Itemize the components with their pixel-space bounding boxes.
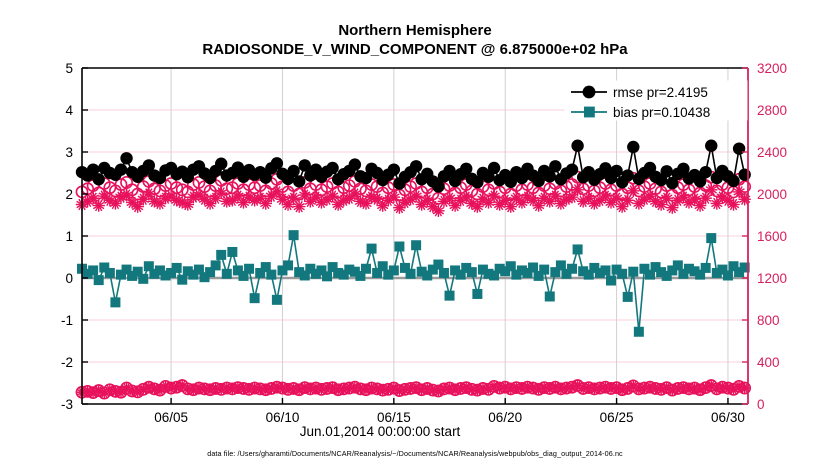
svg-text:400: 400 xyxy=(757,355,780,370)
svg-text:0: 0 xyxy=(757,397,765,412)
svg-text:3200: 3200 xyxy=(757,61,787,76)
svg-text:-2: -2 xyxy=(61,355,73,370)
svg-text:06/25: 06/25 xyxy=(600,410,634,425)
svg-text:-3: -3 xyxy=(61,397,73,412)
x-axis-ticks: 06/0506/1006/1506/2006/2506/30 xyxy=(154,398,745,425)
svg-text:4: 4 xyxy=(65,103,73,118)
svg-text:1600: 1600 xyxy=(757,229,787,244)
svg-text:0: 0 xyxy=(65,271,73,286)
svg-text:2400: 2400 xyxy=(757,145,787,160)
horizontal-gridlines xyxy=(82,110,748,362)
y-axis-left-ticks: -3-2-1012345 xyxy=(61,61,88,412)
svg-text:800: 800 xyxy=(757,313,780,328)
svg-text:1: 1 xyxy=(65,229,73,244)
chart-figure: Northern Hemisphere RADIOSONDE_V_WIND_CO… xyxy=(0,0,830,470)
svg-text:2000: 2000 xyxy=(757,187,787,202)
legend-label: bias pr=0.10438 xyxy=(613,105,710,120)
svg-text:2: 2 xyxy=(65,187,73,202)
series-obs-low-overlay xyxy=(76,379,751,399)
svg-text:06/30: 06/30 xyxy=(711,410,745,425)
svg-text:5: 5 xyxy=(65,61,73,76)
svg-text:3: 3 xyxy=(65,145,73,160)
svg-text:06/05: 06/05 xyxy=(154,410,188,425)
svg-text:06/20: 06/20 xyxy=(488,410,522,425)
plot-canvas: -3-2-1012345 040080012001600200024002800… xyxy=(0,0,830,470)
chart-legend[interactable]: rmse pr=2.4195bias pr=0.10438 xyxy=(565,81,747,120)
svg-text:06/10: 06/10 xyxy=(266,410,300,425)
series-bias xyxy=(77,230,750,337)
legend-label: rmse pr=2.4195 xyxy=(613,85,708,100)
svg-text:1200: 1200 xyxy=(757,271,787,286)
svg-text:-1: -1 xyxy=(61,313,73,328)
svg-text:06/15: 06/15 xyxy=(377,410,411,425)
svg-text:2800: 2800 xyxy=(757,103,787,118)
